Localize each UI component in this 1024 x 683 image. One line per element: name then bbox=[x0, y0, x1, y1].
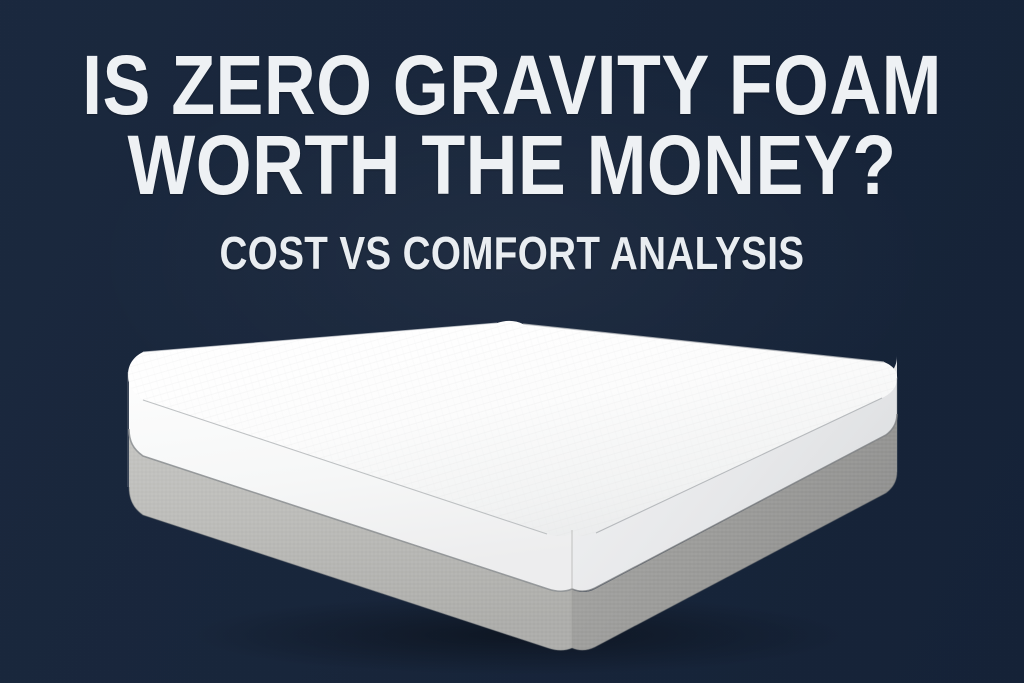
headline-line-2: WORTH THE MONEY? bbox=[74, 124, 950, 207]
title-group: IS ZERO GRAVITY FOAM WORTH THE MONEY? CO… bbox=[0, 44, 1024, 276]
subheadline: COST VS COMFORT ANALYSIS bbox=[82, 230, 942, 276]
poster-canvas: IS ZERO GRAVITY FOAM WORTH THE MONEY? CO… bbox=[0, 0, 1024, 683]
headline-line-1: IS ZERO GRAVITY FOAM bbox=[74, 44, 950, 127]
